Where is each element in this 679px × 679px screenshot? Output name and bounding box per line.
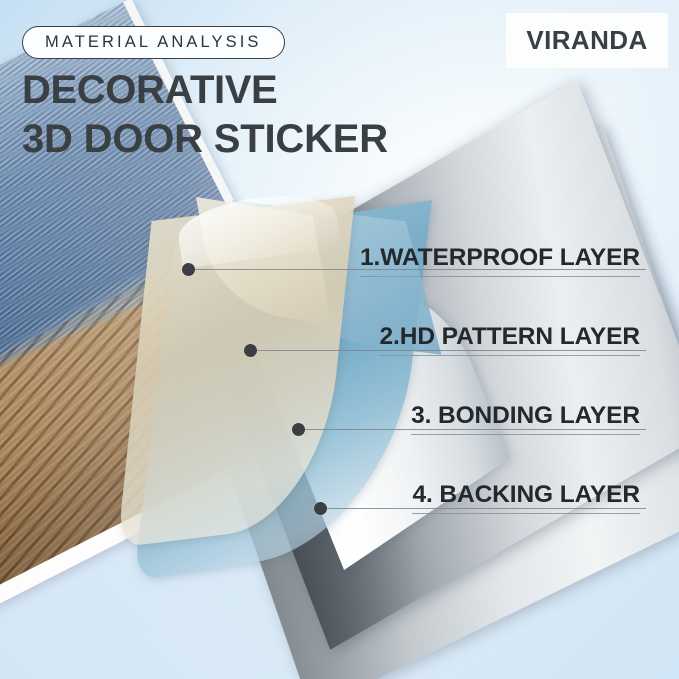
brand-logo-text: VIRANDA xyxy=(526,25,647,56)
page-title-line-1: DECORATIVE xyxy=(22,66,388,115)
layer-label-3-underline xyxy=(411,434,640,435)
page-title-line-2: 3D DOOR STICKER xyxy=(22,115,388,164)
page-title: DECORATIVE 3D DOOR STICKER xyxy=(22,66,388,164)
callout-dot-3 xyxy=(292,423,305,436)
product-infographic-poster: 1.WATERPROOF LAYER 2.HD PATTERN LAYER 3.… xyxy=(0,0,679,679)
layer-label-2: 2.HD PATTERN LAYER xyxy=(380,322,640,356)
callout-dot-4 xyxy=(314,502,327,515)
layer-label-2-text: 2.HD PATTERN LAYER xyxy=(380,322,640,352)
layer-label-1: 1.WATERPROOF LAYER xyxy=(360,243,640,277)
callout-dot-2 xyxy=(244,344,257,357)
layer-label-2-underline xyxy=(380,355,640,356)
layer-label-3: 3. BONDING LAYER xyxy=(411,401,640,435)
callout-dot-1 xyxy=(182,263,195,276)
layer-label-4: 4. BACKING LAYER xyxy=(412,480,640,514)
layer-label-4-underline xyxy=(412,513,640,514)
layer-label-4-text: 4. BACKING LAYER xyxy=(412,480,640,510)
layer-label-1-text: 1.WATERPROOF LAYER xyxy=(360,243,640,273)
layer-label-1-underline xyxy=(360,276,640,277)
material-analysis-badge: MATERIAL ANALYSIS xyxy=(22,26,285,59)
layer-label-3-text: 3. BONDING LAYER xyxy=(411,401,640,431)
brand-logo: VIRANDA xyxy=(506,13,668,68)
material-analysis-badge-label: MATERIAL ANALYSIS xyxy=(45,33,262,52)
